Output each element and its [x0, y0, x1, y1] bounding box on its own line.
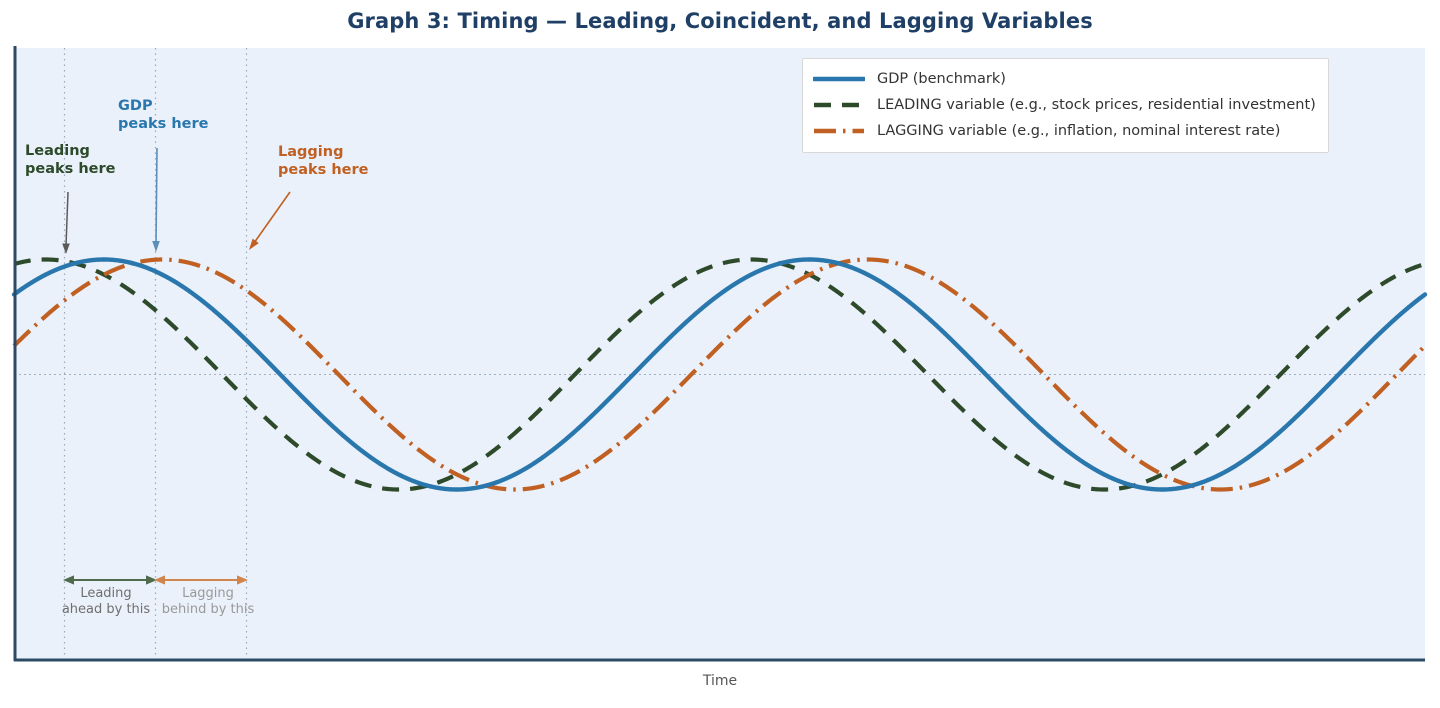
legend-label-leading: LEADING variable (e.g., stock prices, re…	[877, 97, 1316, 113]
annotation-lagging-peak: Lagging peaks here	[278, 144, 368, 179]
legend-key-leading-icon	[813, 98, 865, 112]
annotation-gdp-peak: GDP peaks here	[118, 98, 208, 133]
legend-item-lagging[interactable]: LAGGING variable (e.g., inflation, nomin…	[813, 118, 1316, 144]
chart-legend: GDP (benchmark) LEADING variable (e.g., …	[802, 58, 1329, 153]
span-label-lagging: Lagging behind by this	[118, 586, 298, 619]
legend-key-gdp-icon	[813, 72, 865, 86]
legend-key-lagging-icon	[813, 124, 865, 138]
legend-label-gdp: GDP (benchmark)	[877, 71, 1006, 87]
chart-canvas: Graph 3: Timing — Leading, Coincident, a…	[0, 0, 1440, 708]
legend-label-lagging: LAGGING variable (e.g., inflation, nomin…	[877, 123, 1280, 139]
legend-item-leading[interactable]: LEADING variable (e.g., stock prices, re…	[813, 92, 1316, 118]
annotation-leading-peak: Leading peaks here	[25, 143, 115, 178]
x-axis-label: Time	[0, 673, 1440, 689]
legend-item-gdp[interactable]: GDP (benchmark)	[813, 66, 1316, 92]
